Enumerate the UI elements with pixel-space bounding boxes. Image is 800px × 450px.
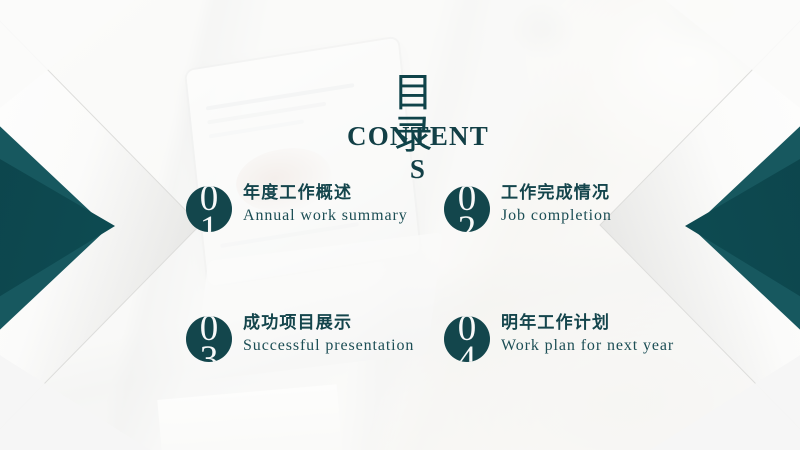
item-3-title-en: Successful presentation xyxy=(243,335,435,356)
item-4-title-cn: 明年工作计划 xyxy=(501,312,693,334)
content-item-2[interactable]: 0 2 工作完成情况 Job completion xyxy=(444,182,694,292)
item-2-number-bottom: 2 xyxy=(444,214,490,232)
item-3-number-badge: 0 3 xyxy=(186,316,232,362)
item-1-number: 0 1 xyxy=(186,186,232,232)
content-item-4[interactable]: 0 4 明年工作计划 Work plan for next year xyxy=(444,312,694,422)
item-3-number-bottom: 3 xyxy=(186,344,232,362)
item-1-title-en: Annual work summary xyxy=(243,205,435,226)
contents-slide: 目 录 CONTENT S 0 1 年度工作概述 Annual work sum… xyxy=(0,0,800,450)
title-chinese-char-2: 录 xyxy=(384,114,442,156)
item-1-number-badge: 0 1 xyxy=(186,186,232,232)
item-4-number-bottom: 4 xyxy=(444,344,490,362)
item-1-number-bottom: 1 xyxy=(186,214,232,232)
item-1-text: 年度工作概述 Annual work summary xyxy=(243,182,435,226)
slide-title: 目 录 CONTENT S xyxy=(330,72,506,172)
item-2-title-en: Job completion xyxy=(501,205,693,226)
item-4-text: 明年工作计划 Work plan for next year xyxy=(501,312,693,356)
content-item-3[interactable]: 0 3 成功项目展示 Successful presentation xyxy=(186,312,436,422)
title-chinese: 目 录 xyxy=(384,72,442,156)
item-4-number: 0 4 xyxy=(444,316,490,362)
item-3-text: 成功项目展示 Successful presentation xyxy=(243,312,435,356)
item-2-number: 0 2 xyxy=(444,186,490,232)
title-english-line-2: S xyxy=(330,153,506,186)
content-item-1[interactable]: 0 1 年度工作概述 Annual work summary xyxy=(186,182,436,292)
item-3-number: 0 3 xyxy=(186,316,232,362)
item-2-text: 工作完成情况 Job completion xyxy=(501,182,693,226)
item-2-title-cn: 工作完成情况 xyxy=(501,182,693,204)
item-3-title-cn: 成功项目展示 xyxy=(243,312,435,334)
item-2-number-badge: 0 2 xyxy=(444,186,490,232)
item-4-number-badge: 0 4 xyxy=(444,316,490,362)
title-chinese-char-1: 目 xyxy=(384,72,442,114)
item-4-title-en: Work plan for next year xyxy=(501,335,693,356)
